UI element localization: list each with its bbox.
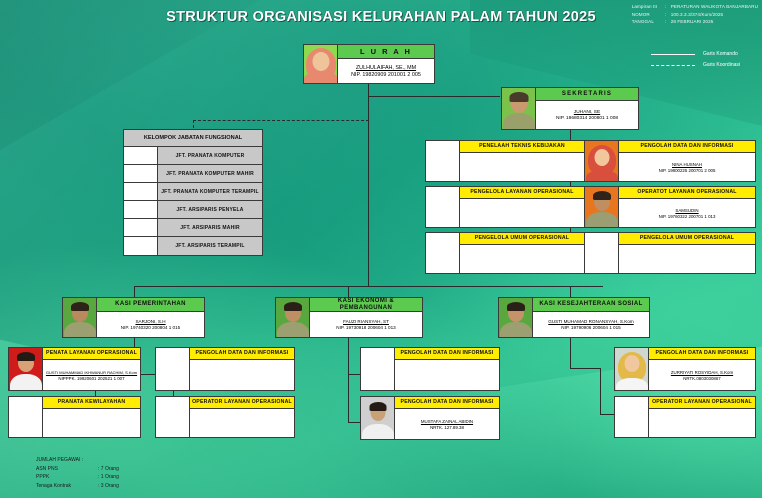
avatar-gusti-ikhwanur (9, 348, 43, 390)
card-pengolah-data-dan-informasi-4[interactable]: PENGOLAH DATA DAN INFORMASI MUSTAFA ZAIN… (360, 396, 500, 440)
card-title: OPERATOR LAYANAN OPERASIONAL (190, 397, 294, 409)
card-pengolah-data-dan-informasi-2[interactable]: PENGOLAH DATA DAN INFORMASI (155, 347, 295, 391)
avatar-slot (426, 187, 460, 227)
person-nip: NIPPPK. 19920601 202521 1 007 (58, 376, 124, 381)
person-nip: NIP. 19730918 200604 1 013 (336, 325, 395, 330)
list-item[interactable]: JFT. ARSIPARIS TERAMPIL (124, 237, 262, 255)
card-pengelola-layanan-operasional[interactable]: PENGELOLA LAYANAN OPERASIONAL (425, 186, 585, 228)
connector-line (600, 368, 601, 414)
avatar-gusti-ronansyah (499, 298, 533, 337)
avatar-sekretaris (502, 88, 536, 129)
avatar-slot (124, 219, 158, 236)
avatar-nina-husnah (585, 141, 619, 181)
avatar-zurriyati (615, 348, 649, 390)
card-title: OPERATOT LAYANAN OPERASIONAL (619, 187, 755, 199)
connector-line (348, 422, 360, 423)
legal-lampiran-label: Lampiran III (632, 3, 665, 11)
person-name: SARJONI, S.H (135, 319, 165, 324)
avatar-slot (361, 348, 395, 390)
group-title: KELOMPOK JABATAN FUNGSIONAL (124, 130, 262, 147)
avatar-slot (615, 397, 649, 437)
summary-value: : 7 Orang (98, 465, 146, 473)
card-title: PRANATA KEWILAYAHAN (43, 397, 140, 409)
card-penelaah-teknis-kebijakan[interactable]: PENELAAH TEKNIS KEBIJAKAN (425, 140, 585, 182)
person-name: GUSTI MUHAMAD RONANSYAH, S.Kom (548, 319, 633, 324)
card-title: PENGELOLA LAYANAN OPERASIONAL (460, 187, 584, 199)
person-nip: NIP. 19790906 200604 1 015 (561, 325, 620, 330)
group-jabatan-fungsional[interactable]: KELOMPOK JABATAN FUNGSIONAL JFT. PRANATA… (123, 129, 263, 256)
card-operator-layanan-operasional-3[interactable]: OPERATOR LAYANAN OPERASIONAL (614, 396, 756, 438)
person-nip: NIP. 19760322 200701 1 013 (659, 214, 716, 219)
person-nip: NIP. 19740320 200804 1 015 (121, 325, 180, 330)
summary-label: Tenaga Kontrak (36, 482, 98, 490)
connector-line (570, 338, 571, 368)
legal-lampiran-value: PERATURAN WALIKOTA BANJARBARU (671, 3, 758, 11)
chart-canvas: STRUKTUR ORGANISASI KELURAHAN PALAM TAHU… (0, 0, 762, 498)
connector-line (368, 96, 500, 97)
person-info (619, 245, 755, 273)
person-info (395, 360, 499, 390)
card-pengolah-data-dan-informasi-5[interactable]: PENGOLAH DATA DAN INFORMASI ZURRIYATI RO… (614, 347, 756, 391)
card-title: L U R A H (338, 45, 434, 59)
card-title: PENGOLAH DATA DAN INFORMASI (619, 141, 755, 153)
avatar-fauzi (276, 298, 310, 337)
avatar-slot (156, 397, 190, 437)
person-name: SAMSUDIN (675, 208, 698, 213)
list-item[interactable]: JFT. ARSIPARIS MAHIR (124, 219, 262, 237)
card-title: PENGOLAH DATA DAN INFORMASI (395, 397, 499, 409)
list-item-label: JFT. ARSIPARIS TERAMPIL (158, 237, 262, 255)
connector-line (348, 374, 349, 422)
list-item-label: JFT. ARSIPARIS PENYELA (158, 201, 262, 218)
list-item[interactable]: JFT. PRANATA KOMPUTER (124, 147, 262, 165)
list-item[interactable]: JFT. PRANATA KOMPUTER TERAMPIL (124, 183, 262, 201)
card-title: OPERATOR LAYANAN OPERASIONAL (649, 397, 755, 409)
card-pengelola-umum-operasional-right[interactable]: PENGELOLA UMUM OPERASIONAL (584, 232, 756, 274)
person-info (43, 409, 140, 437)
summary-row: Tenaga Kontrak : 3 Orang (36, 482, 146, 490)
summary-value: : 1 Orang (98, 473, 146, 481)
person-info (460, 245, 584, 273)
list-item[interactable]: JFT. PRANATA KOMPUTER MAHIR (124, 165, 262, 183)
avatar-slot (426, 141, 460, 181)
card-pengolah-data-dan-informasi-3[interactable]: PENGOLAH DATA DAN INFORMASI (360, 347, 500, 391)
summary-label: ASN PNS (36, 465, 98, 473)
card-title: KASI EKONOMI & PEMBANGUNAN (310, 298, 422, 312)
avatar-sarjoni (63, 298, 97, 337)
legend-item-koordinasi: Garis Koordinasi (651, 60, 740, 71)
card-sekretaris[interactable]: SEKRETARIS JUHANI, SE NIP. 19680314 2008… (501, 87, 639, 130)
card-pengolah-data-dan-informasi-1[interactable]: PENGOLAH DATA DAN INFORMASI NINA HUSNAH … (584, 140, 756, 182)
connector-line (368, 84, 369, 96)
legend-item-komando: Garis Komando (651, 49, 740, 60)
list-item-label: JFT. PRANATA KOMPUTER TERAMPIL (158, 183, 262, 200)
dashed-line-icon (651, 65, 695, 66)
list-item-label: JFT. PRANATA KOMPUTER (158, 147, 262, 164)
list-item[interactable]: JFT. ARSIPARIS PENYELA (124, 201, 262, 219)
coordination-line (193, 120, 369, 121)
card-title: SEKRETARIS (536, 88, 638, 101)
person-name: ZULHULAIFAH, SE., MM (356, 65, 416, 71)
avatar-lurah (304, 45, 338, 83)
list-item-label: JFT. PRANATA KOMPUTER MAHIR (158, 165, 262, 182)
employee-summary: JUMLAH PEGAWAI : ASN PNS : 7 Orang PPPK … (36, 456, 146, 490)
card-title: PENGELOLA UMUM OPERASIONAL (460, 233, 584, 245)
card-operator-layanan-operasional-2[interactable]: OPERATOR LAYANAN OPERASIONAL (155, 396, 295, 438)
avatar-slot (9, 397, 43, 437)
person-name: ZURRIYATI ROSYIDAH, S.Kom (671, 370, 733, 375)
connector-line (134, 286, 603, 287)
summary-title: JUMLAH PEGAWAI : (36, 456, 146, 464)
person-info (649, 409, 755, 437)
card-kasi-kesejahteraan-sosial[interactable]: KASI KESEJAHTERAAN SOSIAL GUSTI MUHAMAD … (498, 297, 650, 338)
connector-line (600, 414, 614, 415)
card-title: PENGOLAH DATA DAN INFORMASI (649, 348, 755, 360)
summary-row: PPPK : 1 Orang (36, 473, 146, 481)
person-name: MUSTAFA ZAINAL ABIDIN (421, 419, 473, 424)
card-lurah[interactable]: L U R A H ZULHULAIFAH, SE., MM NIP. 1982… (303, 44, 435, 84)
avatar-slot (156, 348, 190, 390)
person-nip: NRTK. 127.89.38 (430, 425, 464, 430)
card-penata-layanan-operasional[interactable]: PENATA LAYANAN OPERASIONAL GUSTI MUHAMMA… (8, 347, 141, 391)
person-nip: NRTK.0803030867 (683, 376, 721, 381)
avatar-mustafa (361, 397, 395, 439)
summary-row: ASN PNS : 7 Orang (36, 465, 146, 473)
avatar-slot (585, 233, 619, 273)
card-title: PENGOLAH DATA DAN INFORMASI (190, 348, 294, 360)
list-item-label: JFT. ARSIPARIS MAHIR (158, 219, 262, 236)
card-title: PENGOLAH DATA DAN INFORMASI (395, 348, 499, 360)
connector-line (368, 96, 369, 286)
legal-tanggal-value: 28 FEBRUARI 2025 (671, 18, 714, 26)
person-name: FAUZI RIANSYAH, ST (343, 319, 389, 324)
summary-value: : 3 Orang (98, 482, 146, 490)
card-operator-layanan-operasional-1[interactable]: OPERATOT LAYANAN OPERASIONAL SAMSUDIN NI… (584, 186, 756, 228)
person-info (460, 199, 584, 227)
person-name: JUHANI, SE (574, 110, 600, 115)
legal-nomor-label: NOMOR (632, 11, 665, 19)
card-pengelola-umum-operasional-mid[interactable]: PENGELOLA UMUM OPERASIONAL (425, 232, 585, 274)
card-pranata-kewilayahan[interactable]: PRANATA KEWILAYAHAN (8, 396, 141, 438)
card-title: KASI KESEJAHTERAAN SOSIAL (533, 298, 649, 312)
connector-line (348, 374, 360, 375)
avatar-slot (124, 165, 158, 182)
solid-line-icon (651, 54, 695, 55)
card-title: KASI PEMERINTAHAN (97, 298, 204, 312)
legend-label-komando: Garis Komando (703, 49, 738, 60)
legal-reference: Lampiran III : PERATURAN WALIKOTA BANJAR… (632, 3, 758, 26)
coordination-line (193, 120, 194, 128)
summary-label: PPPK (36, 473, 98, 481)
legend: Garis Komando Garis Koordinasi (651, 49, 740, 71)
avatar-slot (124, 237, 158, 255)
avatar-slot (124, 201, 158, 218)
person-name: NINA HUSNAH (672, 162, 702, 167)
legal-tanggal-label: TANGGAL (632, 18, 665, 26)
legend-label-koordinasi: Garis Koordinasi (703, 60, 740, 71)
avatar-slot (124, 147, 158, 164)
card-kasi-ekonomi-pembangunan[interactable]: KASI EKONOMI & PEMBANGUNAN FAUZI RIANSYA… (275, 297, 423, 338)
person-nip: NIP. 19820909 201001 2 005 (351, 72, 421, 78)
person-nip: NIP. 19800225 200701 2 005 (659, 168, 716, 173)
avatar-samsudin (585, 187, 619, 227)
connector-line (570, 368, 600, 369)
person-info (190, 360, 294, 390)
card-title: PENGELOLA UMUM OPERASIONAL (619, 233, 755, 245)
avatar-slot (124, 183, 158, 200)
card-kasi-pemerintahan[interactable]: KASI PEMERINTAHAN SARJONI, S.H NIP. 1974… (62, 297, 205, 338)
person-info (460, 153, 584, 181)
connector-line (348, 338, 349, 374)
person-info (190, 409, 294, 437)
person-name: GUSTI MUHAMMAD IKHWANUR RACHIM, S.Kom (46, 370, 137, 375)
card-title: PENATA LAYANAN OPERASIONAL (43, 348, 140, 360)
card-title: PENELAAH TEKNIS KEBIJAKAN (460, 141, 584, 153)
avatar-slot (426, 233, 460, 273)
person-nip: NIP. 19680314 200801 1 008 (556, 116, 618, 121)
legal-nomor-value: 100.3.3.3/374/Kum/2025 (671, 11, 724, 19)
